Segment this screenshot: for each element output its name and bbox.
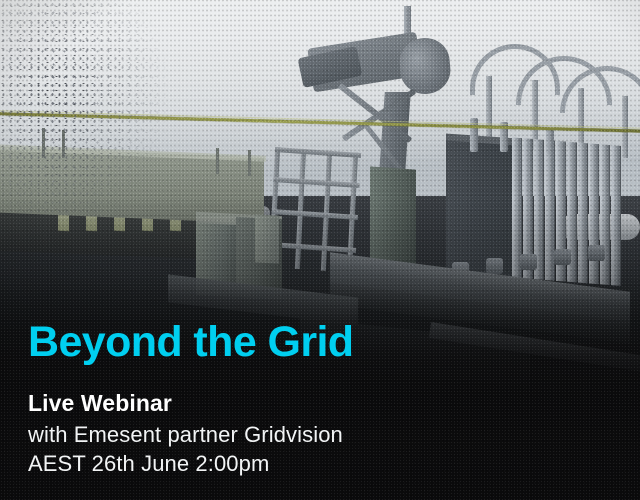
banner-subheadline: Live Webinar — [28, 390, 616, 417]
banner-detail-partner: with Emesent partner Gridvision — [28, 420, 616, 449]
banner-detail-datetime: AEST 26th June 2:00pm — [28, 449, 616, 478]
banner-copy-block: Beyond the Grid Live Webinar with Emesen… — [28, 321, 616, 478]
banner-headline: Beyond the Grid — [28, 321, 616, 364]
webinar-promo-banner: Beyond the Grid Live Webinar with Emesen… — [0, 0, 640, 500]
